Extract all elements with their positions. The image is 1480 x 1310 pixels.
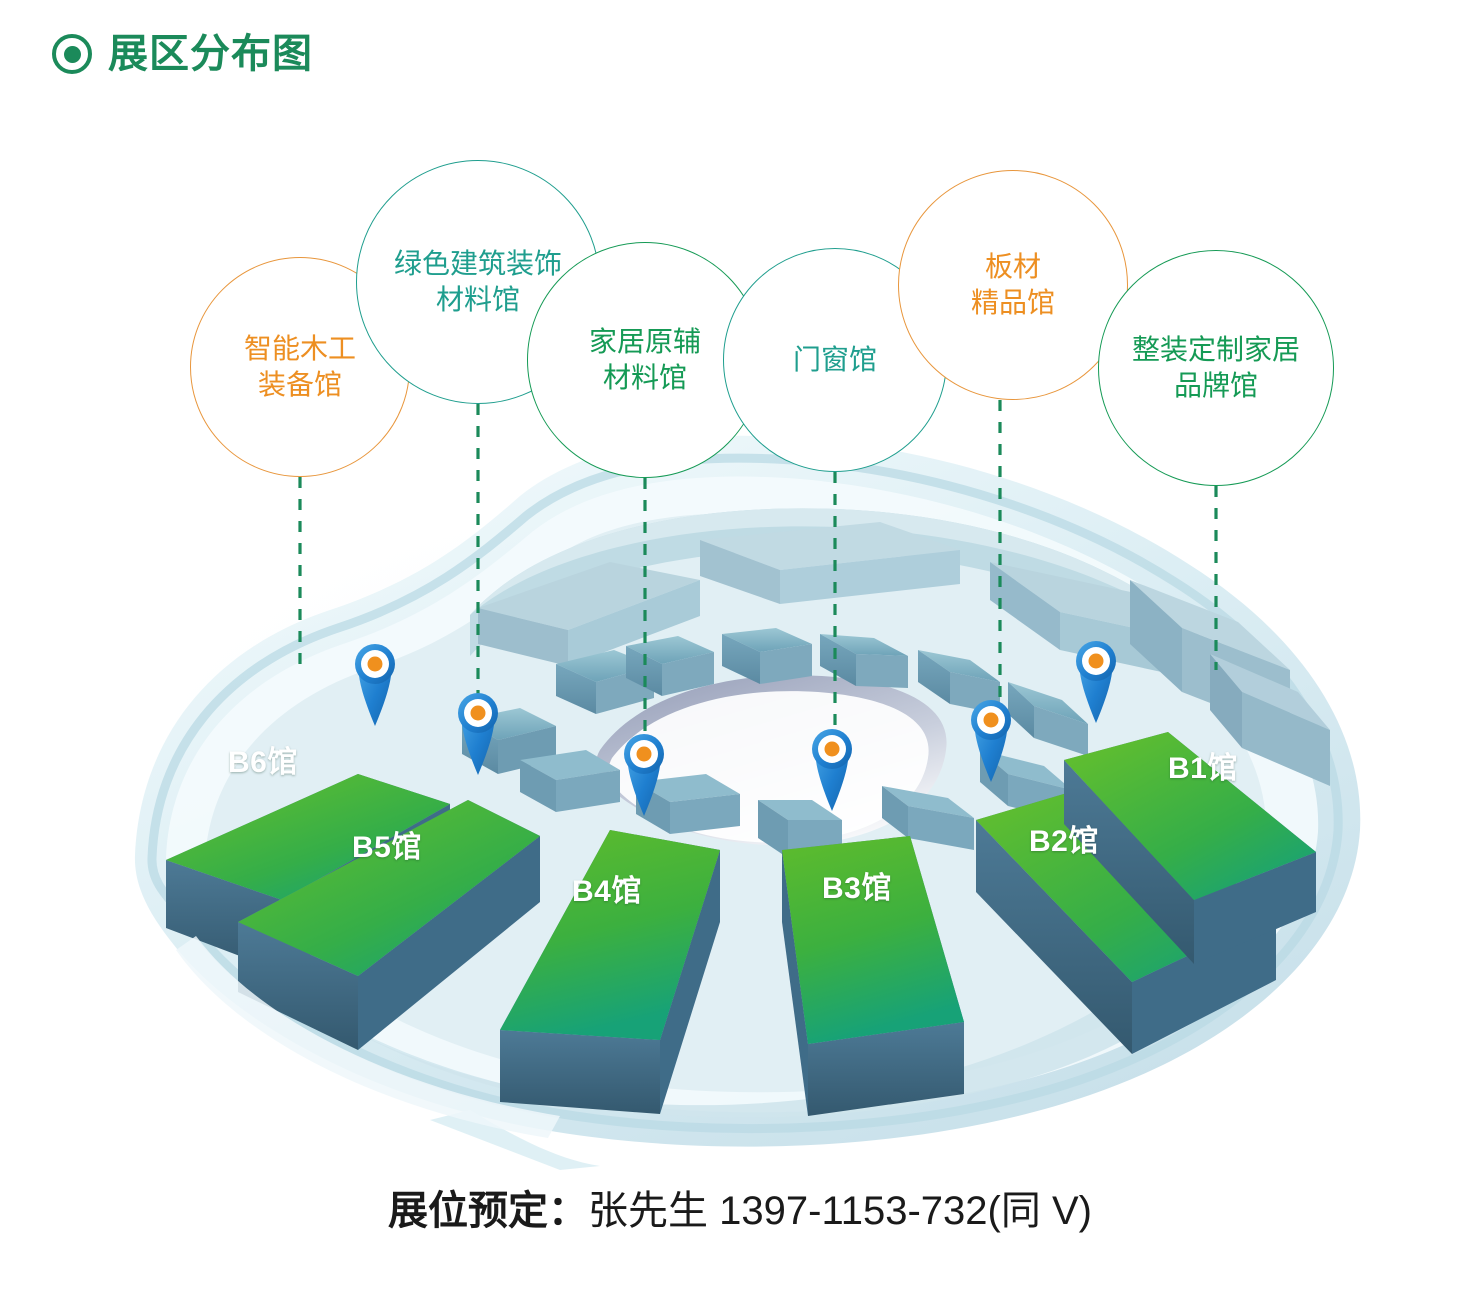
hall-label-B4[interactable]: B4馆 — [572, 866, 642, 910]
hall-label-B5[interactable]: B5馆 — [352, 822, 422, 866]
hall-label-B2[interactable]: B2馆 — [1029, 816, 1099, 860]
booking-contact-value: 张先生 1397-1153-732(同 V) — [588, 1189, 1092, 1233]
zone-bubble-label: 板材 精品馆 — [965, 249, 1061, 321]
target-dot-icon — [52, 34, 92, 74]
pin-center-dot — [825, 742, 840, 757]
exhibition-map: 智能木工 装备馆绿色建筑装饰 材料馆家居原辅 材料馆门窗馆板材 精品馆整装定制家… — [0, 110, 1480, 1170]
zone-bubble-label: 门窗馆 — [787, 342, 883, 378]
zone-bubble-label: 整装定制家居 品牌馆 — [1126, 332, 1306, 404]
page-title: 展区分布图 — [108, 34, 313, 74]
zone-bubble-b2[interactable]: 板材 精品馆 — [898, 170, 1128, 400]
zone-bubble-b1[interactable]: 整装定制家居 品牌馆 — [1098, 250, 1334, 486]
hall-label-B3[interactable]: B3馆 — [822, 863, 892, 907]
pin-center-dot — [471, 706, 486, 721]
pin-center-dot — [1089, 654, 1104, 669]
page-header: 展区分布图 — [52, 34, 313, 74]
zone-bubble-label: 智能木工 装备馆 — [238, 331, 362, 403]
zone-bubble-label: 家居原辅 材料馆 — [583, 324, 707, 396]
hall-label-B1[interactable]: B1馆 — [1168, 743, 1238, 787]
pin-center-dot — [984, 713, 999, 728]
pin-center-dot — [637, 747, 652, 762]
pin-center-dot — [368, 657, 383, 672]
booking-lead-label: 展位预定： — [388, 1189, 588, 1233]
booking-contact: 展位预定：张先生 1397-1153-732(同 V) — [0, 1178, 1480, 1236]
hall-label-B6[interactable]: B6馆 — [228, 737, 298, 781]
